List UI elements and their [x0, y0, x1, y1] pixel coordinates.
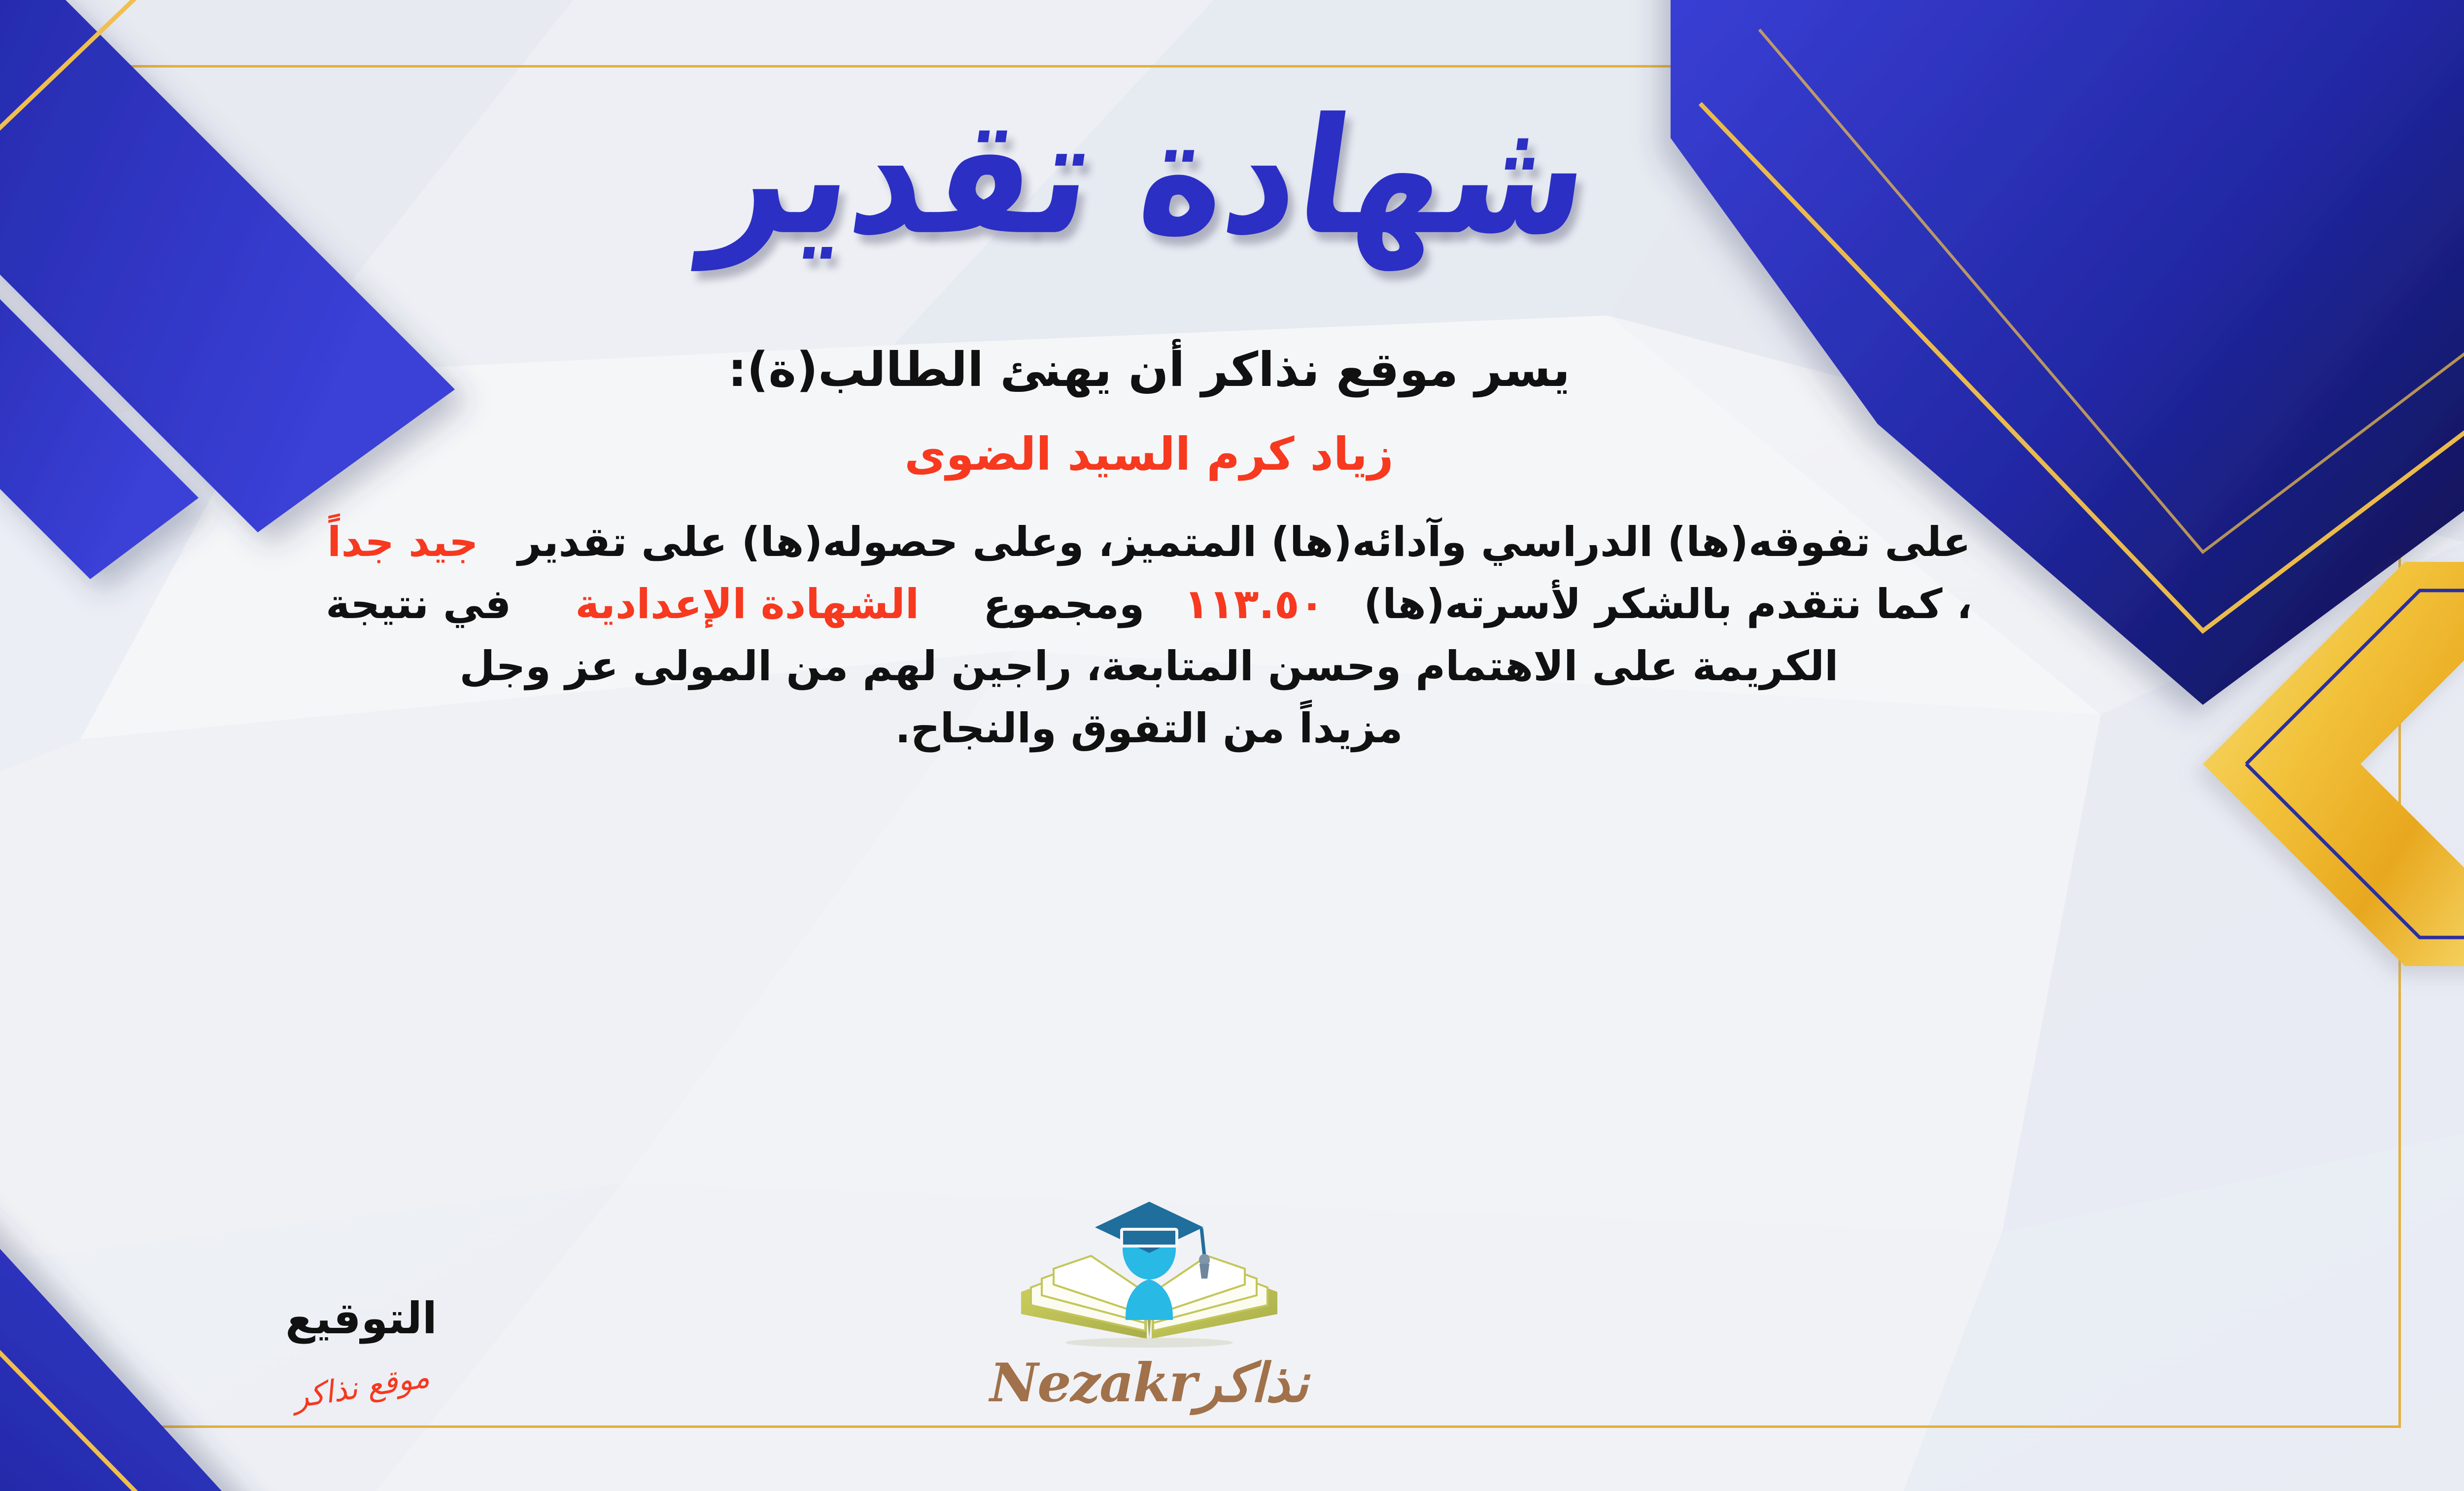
certificate-title-area: شهادة تقدير — [0, 74, 2464, 281]
brand-logo: Nezakrنذاكر — [962, 1191, 1336, 1410]
student-name: زياد كرم السيد الضوى — [904, 428, 1394, 481]
body-line-2: ، كما نتقدم بالشكر لأسرته(ها)١١٣.٥٠ومجمو… — [45, 573, 2253, 635]
body-line-1: على تفوقه(ها) الدراسي وآدائه(ها) المتميز… — [45, 511, 2253, 573]
exam-name: الشهادة الإعدادية — [575, 573, 919, 635]
certificate-body: على تفوقه(ها) الدراسي وآدائه(ها) المتميز… — [45, 511, 2253, 760]
signature-label: التوقيع — [189, 1297, 534, 1340]
signature-block: التوقيع موقع نذاكر — [189, 1297, 534, 1405]
certificate-page: شهادة تقدير يسر موقع نذاكر أن يهنئ الطال… — [0, 0, 2464, 1491]
total-score: ١١٣.٥٠ — [1184, 573, 1324, 635]
body-line-2-prefix: ، كما نتقدم بالشكر لأسرته(ها) — [1364, 573, 1972, 635]
logo-wordmark: Nezakrنذاكر — [962, 1356, 1336, 1410]
body-line-1-text: على تفوقه(ها) الدراسي وآدائه(ها) المتميز… — [518, 518, 1971, 566]
body-line-3: الكريمة على الاهتمام وحسن المتابعة، راجي… — [45, 635, 2253, 697]
body-line-2-total-label: ومجموع — [983, 573, 1144, 635]
grade-value: جيد جداً — [327, 518, 479, 566]
greeting-text: يسر موقع نذاكر أن يهنئ الطالب(ة): — [728, 340, 1570, 399]
page-title: شهادة تقدير — [699, 98, 1599, 258]
body-line-2-result-label: في نتيجة — [326, 573, 511, 635]
graduate-book-logo-icon — [1011, 1191, 1287, 1353]
signature-script: موقع نذاكر — [291, 1358, 432, 1416]
certificate-content: شهادة تقدير يسر موقع نذاكر أن يهنئ الطال… — [0, 0, 2464, 1491]
body-line-4: مزيداً من التفوق والنجاح. — [45, 697, 2253, 760]
